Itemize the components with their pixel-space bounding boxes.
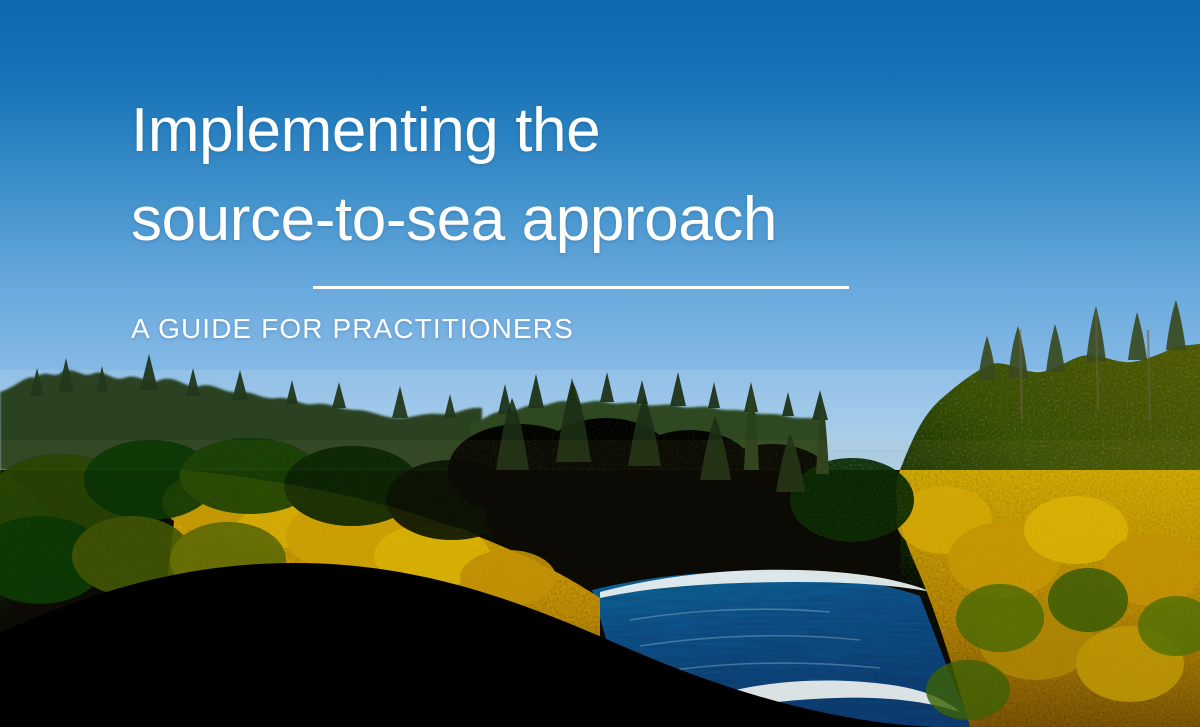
page-subtitle: A GUIDE FOR PRACTITIONERS: [131, 313, 1031, 345]
page-title-line-1: Implementing the: [131, 86, 1031, 175]
publication-cover: Implementing the source-to-sea approach …: [0, 0, 1200, 727]
page-title-line-2: source-to-sea approach: [131, 175, 1031, 264]
title-divider-rule: [313, 286, 849, 289]
title-block: Implementing the source-to-sea approach …: [131, 86, 1031, 345]
